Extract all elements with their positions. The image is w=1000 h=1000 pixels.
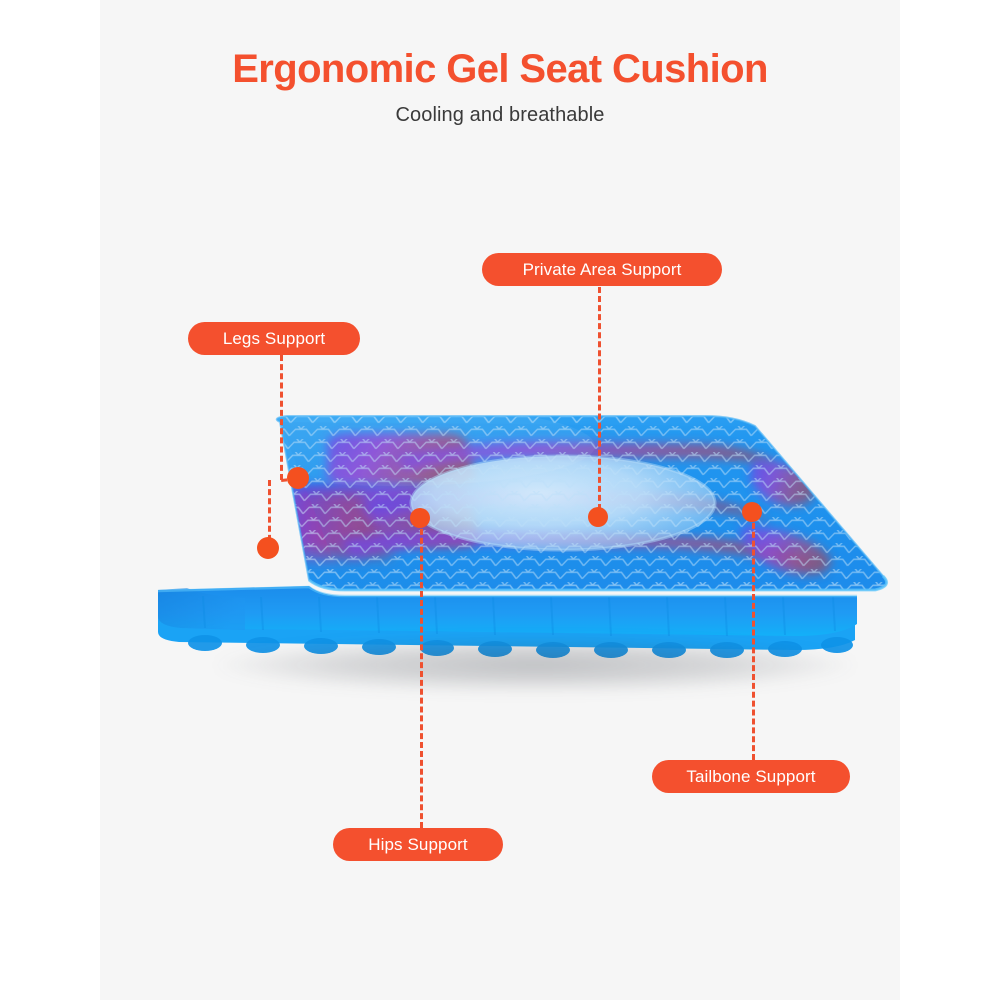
connector-hips-support: [420, 520, 423, 828]
callout-label-tailbone-support: Tailbone Support: [686, 767, 815, 787]
page-title: Ergonomic Gel Seat Cushion: [0, 0, 1000, 92]
callout-label-legs-support: Legs Support: [223, 329, 325, 349]
callout-pill-private-area-support[interactable]: Private Area Support: [482, 253, 722, 286]
callout-label-hips-support: Hips Support: [368, 835, 467, 855]
connector-dot-legs-lower: [257, 537, 279, 559]
callout-pill-tailbone-support[interactable]: Tailbone Support: [652, 760, 850, 793]
callout-pill-legs-support[interactable]: Legs Support: [188, 322, 360, 355]
callout-pill-hips-support[interactable]: Hips Support: [333, 828, 503, 861]
product-shadow: [215, 638, 855, 692]
connector-dot-private-area: [588, 507, 608, 527]
connector-dot-legs-upper: [287, 467, 309, 489]
product-image-gel-cushion: [95, 400, 905, 700]
callout-label-private-area-support: Private Area Support: [523, 260, 682, 280]
cushion-top-face: [133, 405, 905, 605]
connector-dot-hips: [410, 508, 430, 528]
page-subtitle: Cooling and breathable: [0, 92, 1000, 127]
connector-dot-tailbone: [742, 502, 762, 522]
infographic-canvas: Ergonomic Gel Seat Cushion Cooling and b…: [0, 0, 1000, 1000]
connector-private-area-support: [598, 287, 601, 519]
header: Ergonomic Gel Seat Cushion Cooling and b…: [0, 0, 1000, 127]
connector-tailbone-support: [752, 514, 755, 760]
connector-legs-support: [280, 355, 283, 480]
